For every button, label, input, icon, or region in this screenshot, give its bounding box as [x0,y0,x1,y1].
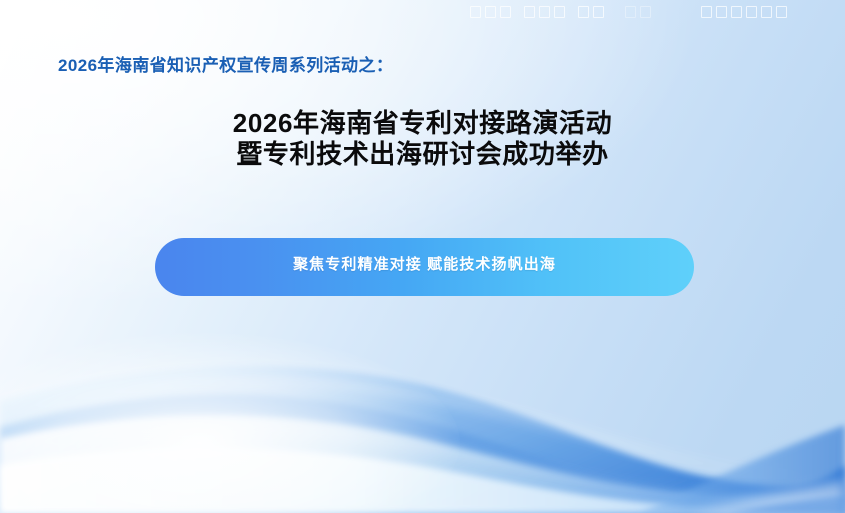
placeholder-box-icon [731,6,742,18]
placeholder-box-icon [500,6,511,18]
placeholder-box-icon [539,6,550,18]
placeholder-box-icon [625,6,636,18]
glyph-group-5 [701,6,791,18]
watermark-glyph-row [470,4,830,20]
placeholder-box-icon [701,6,712,18]
placeholder-box-icon [554,6,565,18]
placeholder-box-icon [485,6,496,18]
placeholder-box-icon [746,6,757,18]
placeholder-box-icon [593,6,604,18]
slogan-banner: 聚焦专利精准对接 赋能技术扬帆出海 [155,238,694,296]
event-poster: 2026年海南省知识产权宣传周系列活动之： 2026年海南省专利对接路演活动 暨… [0,0,845,513]
wave-decoration [0,353,845,513]
placeholder-box-icon [776,6,787,18]
slogan-text: 聚焦专利精准对接 赋能技术扬帆出海 [293,253,556,274]
placeholder-box-icon [640,6,651,18]
placeholder-box-icon [716,6,727,18]
page-title-line-1: 2026年海南省专利对接路演活动 [0,108,845,139]
placeholder-box-icon [524,6,535,18]
placeholder-box-icon [578,6,589,18]
series-eyebrow-text: 2026年海南省知识产权宣传周系列活动之： [58,51,393,76]
placeholder-box-icon [470,6,481,18]
page-title: 2026年海南省专利对接路演活动 暨专利技术出海研讨会成功举办 [0,108,845,170]
placeholder-box-icon [761,6,772,18]
page-title-line-2: 暨专利技术出海研讨会成功举办 [0,139,845,170]
glyph-group-3 [578,6,608,18]
glyph-group-4 [625,6,655,18]
glyph-group-2 [524,6,569,18]
glyph-group-1 [470,6,515,18]
